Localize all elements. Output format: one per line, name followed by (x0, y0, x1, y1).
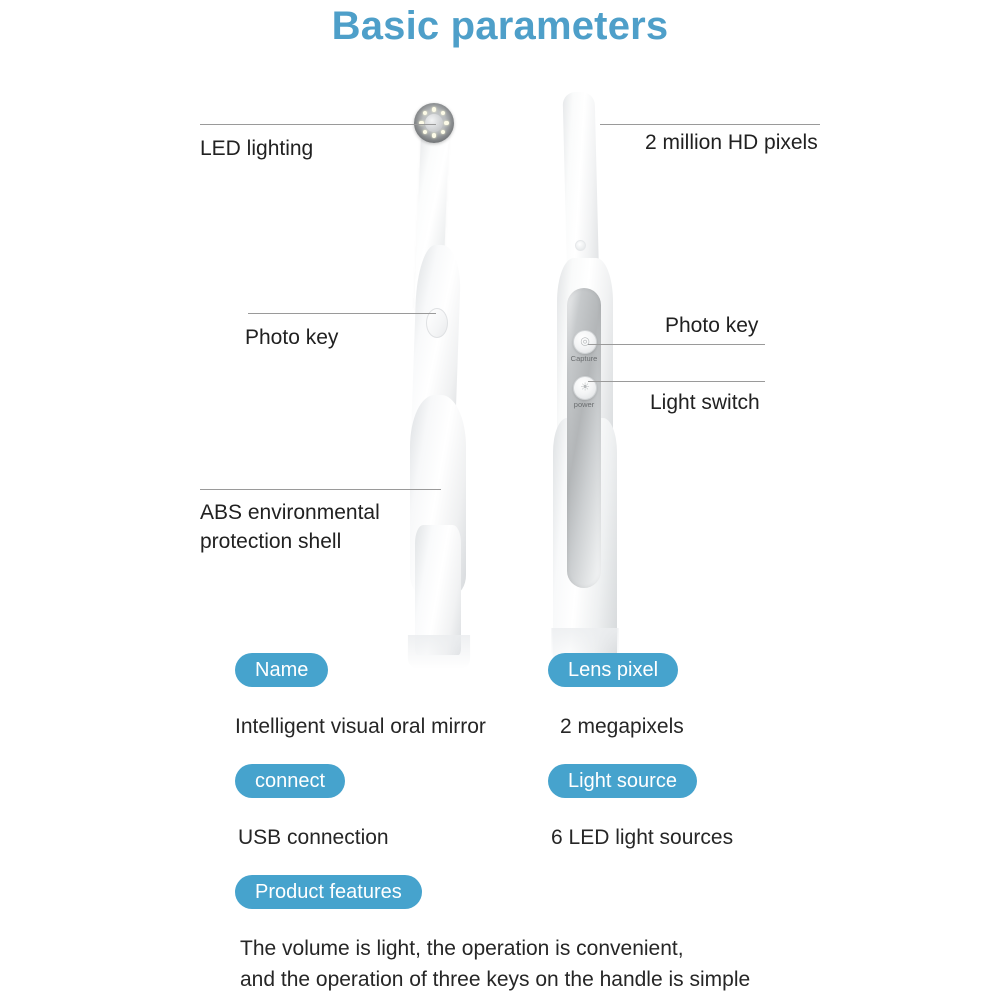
spec-pill-lens-pixel: Lens pixel (548, 653, 678, 687)
leader-line-led-lighting (200, 124, 436, 125)
spec-value-name: Intelligent visual oral mirror (235, 715, 486, 739)
capture-button-label: Capture (564, 354, 604, 363)
spec-value-connect: USB connection (238, 826, 389, 850)
leader-line-abs-shell (200, 489, 441, 490)
power-button[interactable]: ☀ (573, 376, 597, 400)
spec-value-product-features: The volume is light, the operation is co… (240, 933, 750, 995)
power-button-label: power (564, 400, 604, 409)
device-base-reflection (408, 635, 470, 669)
led-dot-icon (432, 133, 437, 138)
led-dot-icon (441, 130, 446, 135)
page-title: Basic parameters (0, 4, 1000, 49)
camera-icon: ◎ (580, 337, 590, 348)
callout-light-switch: Light switch (650, 388, 760, 417)
leader-line-photo-key-right (588, 344, 765, 345)
spec-pill-name: Name (235, 653, 328, 687)
led-dot-icon (444, 121, 449, 126)
led-ring-head (414, 103, 454, 143)
camera-lens-icon (425, 114, 443, 132)
callout-photo-key-left: Photo key (245, 323, 338, 352)
leader-line-photo-key-left (248, 313, 436, 314)
callout-hd-pixels: 2 million HD pixels (645, 128, 818, 157)
callout-abs-shell-line2: protection shell (200, 527, 341, 556)
spec-pill-product-features: Product features (235, 875, 422, 909)
spec-value-lens-pixel: 2 megapixels (560, 715, 684, 739)
callout-photo-key-right: Photo key (665, 311, 758, 340)
led-dot-icon (423, 130, 428, 135)
spec-value-light-source: 6 LED light sources (551, 826, 733, 850)
device-control-panel: ◎ Capture ☀ power (567, 288, 601, 588)
led-dot-icon (423, 111, 428, 116)
callout-led-lighting: LED lighting (200, 134, 313, 163)
spec-pill-connect: connect (235, 764, 345, 798)
capture-button[interactable]: ◎ (573, 330, 597, 354)
device-side-view (408, 95, 508, 655)
brightness-icon: ☀ (580, 383, 590, 394)
callout-abs-shell-line1: ABS environmental (200, 498, 380, 527)
product-figure: ◎ Capture ☀ power (0, 80, 1000, 650)
leader-line-light-switch (588, 381, 765, 382)
device-front-view: ◎ Capture ☀ power (543, 88, 647, 658)
led-dot-icon (441, 111, 446, 116)
device-indicator-light (575, 240, 586, 251)
led-dot-icon (432, 107, 437, 112)
leader-line-hd-pixels (600, 124, 820, 125)
spec-pill-light-source: Light source (548, 764, 697, 798)
